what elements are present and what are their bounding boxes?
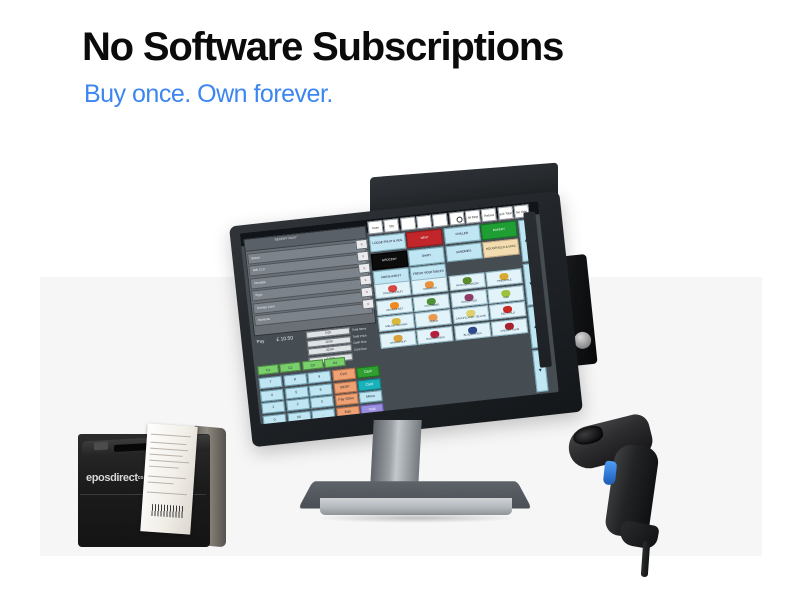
product-button-label: DRAGON FRUIT [376,291,410,298]
payment-total: £ 10.50 [276,335,293,343]
product-button-grid[interactable]: DRAGON FRUITMANGOESAVOCADO GREENPINEAPPL… [374,268,535,408]
department-button[interactable]: HOUSEHOLD & MISC [482,238,519,258]
search-icon[interactable] [448,211,464,226]
keypad-key[interactable]: Card [357,378,381,391]
keypad-key[interactable]: 1 [261,401,285,414]
keypad-key[interactable]: BKSP [333,380,357,393]
product-button-label: MANGOES [413,286,447,293]
department-button[interactable]: SUNDRIES [445,242,482,262]
pos-touch-terminal: RECEIPT #1047 Bread1.20Milk 2 Ltr1.45Che… [230,168,600,556]
payment-legend-item: Card Due [354,345,369,353]
product-button[interactable]: BLUEBERRIES [454,322,491,341]
order-row-name: Bread [251,255,259,260]
printer-feed-button[interactable] [94,442,108,451]
product-button[interactable]: GRAPEFRUIT [379,330,416,349]
order-row-delete-button[interactable]: X [360,286,373,297]
receipt-barcode [151,504,184,518]
order-panel: RECEIPT #1047 Bread1.20Milk 2 Ltr1.45Che… [243,226,376,337]
scanner-base-foot [618,520,660,550]
product-button-label: CUCUMBER [415,303,449,310]
product-button-label: CAULIFLOWER YELLOW [454,315,488,322]
top-function-button[interactable]: Qty [384,218,400,233]
keypad-key[interactable]: CLR [332,368,356,381]
product-button-label: PEACH [417,319,451,326]
scanner-cable [641,541,650,577]
product-button[interactable]: RASPBERRIES [417,326,454,345]
monitor-stand-neck [370,420,421,486]
numeric-keypad[interactable]: 789CLRCash456BKSPCard123Pay OtherMenu000… [259,365,385,424]
product-button-label: ORANGE NET [378,307,412,314]
product-button-label: KIWI [489,295,523,302]
product-button-label: CHERRY PLUM [493,328,527,335]
keypad-key[interactable]: 5 [284,386,308,399]
product-button-label: RED CHILLI [491,311,525,318]
receipt-printer: eposdirectco.uk [78,425,226,547]
payment-label: Pay [256,338,264,344]
keypad-key[interactable]: 9 [307,370,331,383]
keypad-key[interactable]: Void [360,402,384,415]
keypad-key[interactable]: 4 [260,388,284,401]
keypad-key[interactable]: 00 [287,410,311,423]
order-row-name: Bananas [258,317,270,322]
category-button[interactable]: C3 [302,359,324,370]
pos-touchscreen[interactable]: RECEIPT #1047 Bread1.20Milk 2 Ltr1.45Che… [240,201,559,424]
order-row-delete-button[interactable]: X [359,275,372,286]
keypad-key[interactable]: 0 [263,413,287,424]
order-row-delete-button[interactable]: X [355,239,368,250]
department-button[interactable]: DAIRY [408,246,445,266]
top-function-button[interactable] [416,215,432,230]
order-row-name: Cheddar [254,279,266,284]
order-row-name: Milk 2 Ltr [253,267,266,272]
department-button[interactable]: GROCERY [371,250,408,270]
top-function-button[interactable]: All Dept [465,209,481,224]
page-subtitle: Buy once. Own forever. [84,81,333,109]
category-button[interactable]: C4 [324,357,346,368]
keypad-key[interactable]: Pay Other [334,393,358,406]
screen-right-area: ScanQtyAll DeptRefundSub TotalNo Sale LO… [367,204,548,408]
top-function-button[interactable]: Refund [481,208,497,223]
category-button[interactable]: C1 [257,364,279,375]
keypad-key[interactable]: 8 [283,373,307,386]
product-button-label: RASPBERRIES [419,336,453,343]
monitor-base-shadow [314,513,518,523]
payment-legend: Total ItemsTotal PriceCash DueCard Due [352,325,369,352]
keypad-key[interactable]: 2 [286,398,310,411]
product-button-label: PINEAPPLE [488,278,522,285]
product-button-label: GARLIC RED [452,299,486,306]
printed-receipt [140,423,197,534]
handheld-barcode-scanner [568,415,686,565]
product-button-label: BLUEBERRIES [456,332,490,339]
keypad-key[interactable]: 3 [310,395,334,408]
pos-monitor: RECEIPT #1047 Bread1.20Milk 2 Ltr1.45Che… [229,191,583,448]
top-function-button[interactable]: Sub Total [497,206,513,221]
product-button-label: GRAPEFRUIT [381,340,415,347]
product-button-label: AVOCADO GREEN [450,282,484,289]
top-function-button[interactable] [400,216,416,231]
keypad-key[interactable]: Edit [336,405,360,418]
product-button[interactable]: CHERRY PLUM [491,317,528,336]
product-button-label: MELON ORGANIC [380,323,414,330]
order-title: RECEIPT #1047 [274,235,296,241]
order-row-delete-button[interactable]: X [356,251,369,262]
order-row-name: Orange Juice [257,304,275,310]
top-function-button[interactable]: Scan [367,220,383,235]
keypad-key[interactable]: 7 [259,376,283,389]
category-button[interactable]: C2 [279,362,301,373]
page-title: No Software Subscriptions [82,26,563,68]
printer-brand-text: eposdirect [86,472,138,484]
top-function-button[interactable] [432,213,448,228]
keypad-key[interactable]: 6 [309,383,333,396]
keypad-key[interactable]: Menu [359,390,383,403]
order-row-delete-button[interactable]: X [358,263,371,274]
keypad-key[interactable]: . [311,408,335,421]
keypad-key[interactable]: Cash [356,365,380,378]
order-row-name: Eggs [255,292,262,297]
department-button[interactable]: CHILLED [443,225,480,245]
department-button[interactable]: BAKERY [480,221,517,241]
order-row-delete-button[interactable]: X [362,298,375,309]
department-button[interactable]: LOOSE FRUIT & VEG [369,233,406,253]
department-button[interactable]: MEAT [406,229,443,249]
